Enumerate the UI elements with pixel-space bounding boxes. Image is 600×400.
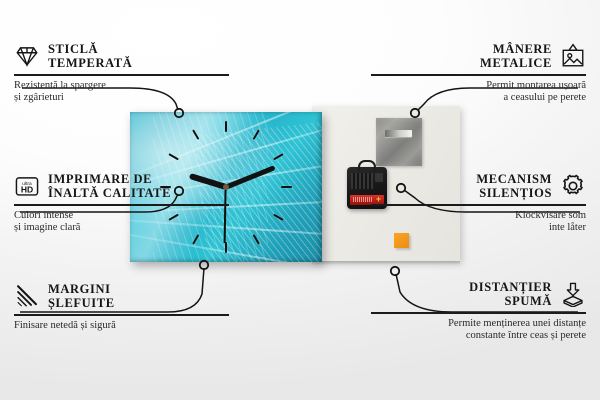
callout-glass-desc: Rezistentă la spargere și zgârieturi <box>14 80 229 105</box>
callout-print-title: IMPRIMARE DE ÎNALTĂ CALITATE <box>48 172 171 200</box>
movement-hanging-loop <box>358 160 376 171</box>
svg-text:HD: HD <box>21 185 33 195</box>
callout-spacer-head: DISTANȚIER SPUMĂ <box>371 280 586 308</box>
callout-mechanism-head: MECANISM SILENȚIOS <box>371 172 586 200</box>
callout-spacer-desc: Permite menținerea unei distanțe constan… <box>371 318 586 343</box>
ultra-hd-icon: ultra HD <box>14 173 40 199</box>
metal-hanger-part <box>376 118 422 166</box>
callout-mechanism-desc: Klockvisare som inte låter <box>371 210 586 235</box>
callout-edges-title: MARGINI ȘLEFUITE <box>48 282 115 310</box>
gear-icon <box>560 173 586 199</box>
callout-handles[interactable]: MÂNERE METALICE Permit montarea ușoară a… <box>371 42 586 105</box>
callout-print-desc: Culori intense și imagine clară <box>14 210 229 235</box>
callout-mechanism[interactable]: MECANISM SILENȚIOS Klockvisare som inte … <box>371 172 586 235</box>
callout-handles-desc: Permit montarea ușoară a ceasului pe per… <box>371 80 586 105</box>
callout-spacer-title: DISTANȚIER SPUMĂ <box>469 280 552 308</box>
callout-handles-head: MÂNERE METALICE <box>371 42 586 70</box>
callout-spacer-rule <box>371 312 586 314</box>
callout-edges-rule <box>14 314 229 316</box>
callout-print[interactable]: ultra HD IMPRIMARE DE ÎNALTĂ CALITATE Cu… <box>14 172 229 235</box>
callout-print-head: ultra HD IMPRIMARE DE ÎNALTĂ CALITATE <box>14 172 229 200</box>
infographic-stage: + <box>0 0 600 400</box>
foam-spacer-icon <box>560 281 586 307</box>
callout-glass-head: STICLĂ TEMPERATĂ <box>14 42 229 70</box>
polished-edges-icon <box>14 283 40 309</box>
callout-print-rule <box>14 204 229 206</box>
callout-glass-title: STICLĂ TEMPERATĂ <box>48 42 132 70</box>
hanger-slot <box>385 130 412 137</box>
picture-hanger-icon <box>560 43 586 69</box>
callout-glass-rule <box>14 74 229 76</box>
foam-spacer-part <box>394 233 409 248</box>
callout-spacer[interactable]: DISTANȚIER SPUMĂ Permite menținerea unei… <box>371 280 586 343</box>
movement-label <box>351 173 373 189</box>
callout-mechanism-title: MECANISM SILENȚIOS <box>476 172 552 200</box>
callout-edges-desc: Finisare netedă și sigură <box>14 320 229 333</box>
callout-handles-title: MÂNERE METALICE <box>480 42 552 70</box>
callout-edges[interactable]: MARGINI ȘLEFUITE Finisare netedă și sigu… <box>14 282 229 332</box>
battery-label <box>353 197 373 202</box>
diamond-icon <box>14 43 40 69</box>
callout-mechanism-rule <box>371 204 586 206</box>
callout-handles-rule <box>371 74 586 76</box>
callout-glass[interactable]: STICLĂ TEMPERATĂ Rezistentă la spargere … <box>14 42 229 105</box>
callout-edges-head: MARGINI ȘLEFUITE <box>14 282 229 310</box>
